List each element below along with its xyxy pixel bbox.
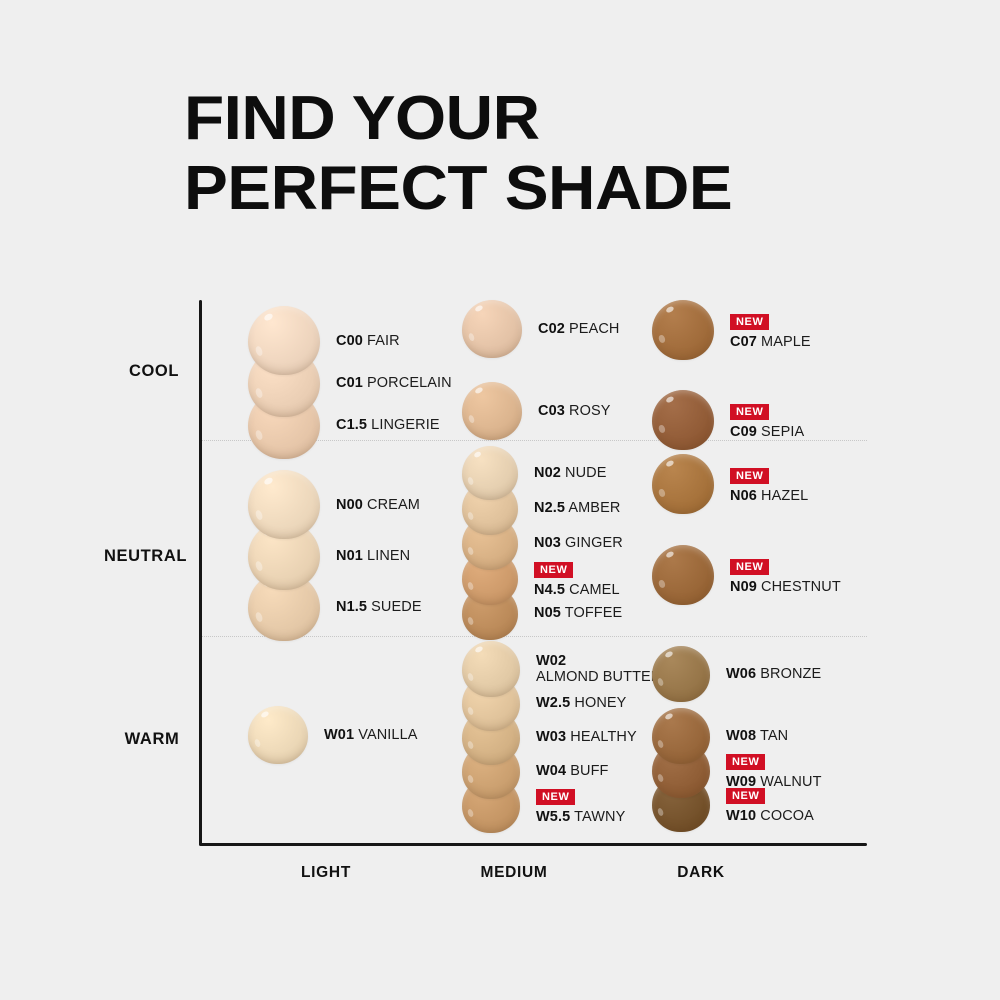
shade-label-text: N09 CHESTNUT: [730, 578, 841, 595]
shade-label: W02ALMOND BUTTER: [536, 653, 661, 685]
droplet-highlight-icon: [657, 740, 665, 749]
shade-name: AMBER: [565, 500, 620, 516]
shade-label: C1.5 LINGERIE: [336, 417, 440, 433]
shade-code: C01: [336, 375, 363, 391]
shade-code: W02: [536, 653, 566, 669]
column-label-dark: DARK: [611, 864, 791, 882]
droplet-highlight-icon: [467, 741, 475, 750]
column-label-light: LIGHT: [236, 864, 416, 882]
droplet-highlight-icon: [665, 305, 675, 313]
shade-name: BRONZE: [756, 666, 821, 682]
shade-label: N1.5 SUEDE: [336, 599, 422, 615]
droplet-highlight-icon: [658, 424, 666, 434]
shade-label: C03 ROSY: [538, 403, 611, 419]
shade-label-text: N03 GINGER: [534, 534, 623, 551]
shade-label: C01 PORCELAIN: [336, 375, 452, 391]
shade-label-text: C02 PEACH: [538, 320, 620, 337]
shade-name: HEALTHY: [566, 729, 637, 745]
shade-name: COCOA: [756, 808, 814, 824]
shade-label-text: N05 TOFFEE: [534, 604, 622, 621]
shade-label-text: W03 HEALTHY: [536, 728, 637, 745]
droplet-highlight-icon: [254, 345, 263, 356]
shade-label: C02 PEACH: [538, 321, 620, 337]
shade-code: W04: [536, 763, 566, 779]
shade-name: CAMEL: [565, 582, 620, 598]
droplet-highlight-icon: [474, 450, 483, 458]
shade-droplet[interactable]: [248, 706, 308, 764]
shade-name: ROSY: [565, 403, 611, 419]
shade-label: W03 HEALTHY: [536, 729, 637, 745]
shade-label: NEWN06 HAZEL: [730, 467, 808, 504]
shade-label: W06 BRONZE: [726, 666, 821, 682]
shade-name: ALMOND BUTTER: [536, 669, 661, 685]
page-title-line-1: FIND YOUR: [184, 84, 841, 154]
shade-droplet[interactable]: [462, 641, 520, 697]
droplet-highlight-icon: [657, 774, 665, 783]
shade-label: N02 NUDE: [534, 465, 607, 481]
shade-droplet[interactable]: [462, 446, 518, 500]
shade-code: N06: [730, 488, 757, 504]
shade-code: N00: [336, 497, 363, 513]
shade-name: CREAM: [363, 497, 420, 513]
row-label-warm: WARM: [110, 730, 194, 749]
shade-finder-chart: FIND YOUR PERFECT SHADE COOL NEUTRAL WAR…: [0, 0, 1000, 1000]
droplet-highlight-icon: [467, 547, 474, 556]
droplet-highlight-icon: [467, 333, 475, 342]
droplet-highlight-icon: [254, 560, 263, 571]
shade-droplet[interactable]: [652, 545, 714, 605]
shade-label-text: N06 HAZEL: [730, 487, 808, 504]
droplet-highlight-icon: [254, 509, 263, 520]
shade-name: CHESTNUT: [757, 579, 841, 595]
shade-code: W03: [536, 729, 566, 745]
shade-label-text: C01 PORCELAIN: [336, 374, 452, 391]
shade-label-text: N2.5 AMBER: [534, 499, 620, 516]
shade-droplet[interactable]: [652, 708, 710, 764]
shade-name: TAN: [756, 728, 788, 744]
shade-label: NEWN4.5 CAMEL: [534, 561, 620, 598]
droplet-highlight-icon: [474, 305, 483, 313]
shade-label-text: N4.5 CAMEL: [534, 581, 620, 598]
shade-code: W10: [726, 808, 756, 824]
shade-label-text: W08 TAN: [726, 727, 788, 744]
shade-name: GINGER: [561, 535, 623, 551]
shade-name: PORCELAIN: [363, 375, 452, 391]
shade-code: N05: [534, 605, 561, 621]
shade-code: N09: [730, 579, 757, 595]
shade-code: N01: [336, 548, 363, 564]
shade-label-text: W10 COCOA: [726, 807, 814, 824]
shade-code: C09: [730, 424, 757, 440]
shade-label: W01 VANILLA: [324, 727, 418, 743]
droplet-highlight-icon: [658, 488, 666, 498]
new-badge: NEW: [536, 789, 575, 805]
shade-droplet[interactable]: [248, 470, 320, 539]
shade-label-text: C1.5 LINGERIE: [336, 416, 440, 433]
droplet-highlight-icon: [657, 678, 665, 687]
shade-label: NEWW5.5 TAWNY: [536, 788, 625, 825]
shade-label-text: W5.5 TAWNY: [536, 808, 625, 825]
shade-label: NEWC09 SEPIA: [730, 403, 804, 440]
droplet-highlight-icon: [254, 611, 263, 622]
shade-code: W5.5: [536, 809, 570, 825]
shade-name: BUFF: [566, 763, 608, 779]
droplet-highlight-icon: [467, 809, 475, 818]
droplet-highlight-icon: [467, 477, 474, 486]
new-badge: NEW: [726, 788, 765, 804]
new-badge: NEW: [730, 314, 769, 330]
new-badge: NEW: [730, 468, 769, 484]
shade-label: N05 TOFFEE: [534, 605, 622, 621]
droplet-highlight-icon: [260, 711, 269, 719]
page-title: FIND YOUR PERFECT SHADE: [184, 84, 804, 224]
droplet-highlight-icon: [467, 512, 474, 521]
droplet-highlight-icon: [665, 395, 675, 403]
droplet-highlight-icon: [665, 550, 675, 558]
shade-name: LINEN: [363, 548, 410, 564]
shade-droplet[interactable]: [462, 382, 522, 440]
shade-name: PEACH: [565, 321, 620, 337]
new-badge: NEW: [730, 404, 769, 420]
droplet-highlight-icon: [657, 808, 665, 817]
shade-name: HAZEL: [757, 488, 808, 504]
page-title-line-2: PERFECT SHADE: [184, 154, 841, 224]
shade-code: C03: [538, 403, 565, 419]
shade-code: N03: [534, 535, 561, 551]
shade-name: TOFFEE: [561, 605, 622, 621]
shade-code: W08: [726, 728, 756, 744]
shade-name: TAWNY: [570, 809, 625, 825]
shade-label: N00 CREAM: [336, 497, 420, 513]
shade-droplet[interactable]: [248, 306, 320, 375]
shade-label-text: W02ALMOND BUTTER: [536, 652, 661, 685]
shade-label-text: N00 CREAM: [336, 496, 420, 513]
shade-label-text: N1.5 SUEDE: [336, 598, 422, 615]
shade-label: N03 GINGER: [534, 535, 623, 551]
shade-code: N2.5: [534, 500, 565, 516]
droplet-highlight-icon: [664, 713, 673, 721]
shade-droplet[interactable]: [652, 646, 710, 702]
shade-label: NEWN09 CHESTNUT: [730, 558, 841, 595]
droplet-highlight-icon: [467, 617, 474, 626]
droplet-highlight-icon: [254, 429, 263, 440]
shade-label-text: C09 SEPIA: [730, 423, 804, 440]
shade-label-text: C00 FAIR: [336, 332, 400, 349]
droplet-highlight-icon: [467, 582, 474, 591]
droplet-highlight-icon: [254, 387, 263, 398]
shade-label-text: W2.5 HONEY: [536, 694, 626, 711]
shade-droplet[interactable]: [652, 300, 714, 360]
shade-label: NEWW09 WALNUT: [726, 753, 822, 790]
shade-name: NUDE: [561, 465, 607, 481]
shade-label-text: C07 MAPLE: [730, 333, 811, 350]
shade-code: W2.5: [536, 695, 570, 711]
droplet-highlight-icon: [658, 334, 666, 344]
droplet-highlight-icon: [467, 415, 475, 424]
shade-label: N2.5 AMBER: [534, 500, 620, 516]
shade-code: C1.5: [336, 417, 367, 433]
shade-code: N02: [534, 465, 561, 481]
shade-code: N1.5: [336, 599, 367, 615]
shade-label: N01 LINEN: [336, 548, 410, 564]
shade-droplet[interactable]: [652, 390, 714, 450]
droplet-highlight-icon: [474, 387, 483, 395]
new-badge: NEW: [726, 754, 765, 770]
shade-code: W01: [324, 727, 354, 743]
shade-label-text: N02 NUDE: [534, 464, 607, 481]
row-label-neutral: NEUTRAL: [95, 547, 196, 566]
horizontal-axis-line: [199, 843, 867, 846]
shade-label-text: W01 VANILLA: [324, 726, 418, 743]
shade-droplet[interactable]: [652, 454, 714, 514]
shade-name: LINGERIE: [367, 417, 440, 433]
droplet-highlight-icon: [664, 651, 673, 659]
shade-label: W2.5 HONEY: [536, 695, 626, 711]
droplet-highlight-icon: [658, 579, 666, 589]
shade-droplet[interactable]: [462, 300, 522, 358]
droplet-highlight-icon: [263, 312, 274, 322]
shade-name: FAIR: [363, 333, 400, 349]
droplet-highlight-icon: [467, 707, 475, 716]
shade-label-text: C03 ROSY: [538, 402, 611, 419]
shade-code: C07: [730, 334, 757, 350]
droplet-highlight-icon: [467, 775, 475, 784]
new-badge: NEW: [534, 562, 573, 578]
column-label-medium: MEDIUM: [424, 864, 604, 882]
vertical-axis-line: [199, 300, 202, 845]
shade-name: MAPLE: [757, 334, 811, 350]
shade-label: NEWC07 MAPLE: [730, 313, 811, 350]
shade-code: C02: [538, 321, 565, 337]
shade-label-text: W04 BUFF: [536, 762, 609, 779]
droplet-highlight-icon: [474, 646, 483, 654]
shade-label: W08 TAN: [726, 728, 788, 744]
shade-name: HONEY: [570, 695, 626, 711]
shade-label-text: N01 LINEN: [336, 547, 410, 564]
droplet-highlight-icon: [253, 739, 261, 748]
new-badge: NEW: [730, 559, 769, 575]
shade-code: N4.5: [534, 582, 565, 598]
droplet-highlight-icon: [263, 476, 274, 486]
row-label-cool: COOL: [112, 362, 196, 381]
shade-name: SUEDE: [367, 599, 422, 615]
shade-label: W04 BUFF: [536, 763, 609, 779]
shade-label-text: W06 BRONZE: [726, 665, 821, 682]
shade-label: NEWW10 COCOA: [726, 787, 814, 824]
droplet-highlight-icon: [665, 459, 675, 467]
shade-label: C00 FAIR: [336, 333, 400, 349]
shade-name: VANILLA: [354, 727, 417, 743]
shade-name: SEPIA: [757, 424, 804, 440]
shade-code: W06: [726, 666, 756, 682]
shade-code: C00: [336, 333, 363, 349]
droplet-highlight-icon: [467, 673, 475, 682]
